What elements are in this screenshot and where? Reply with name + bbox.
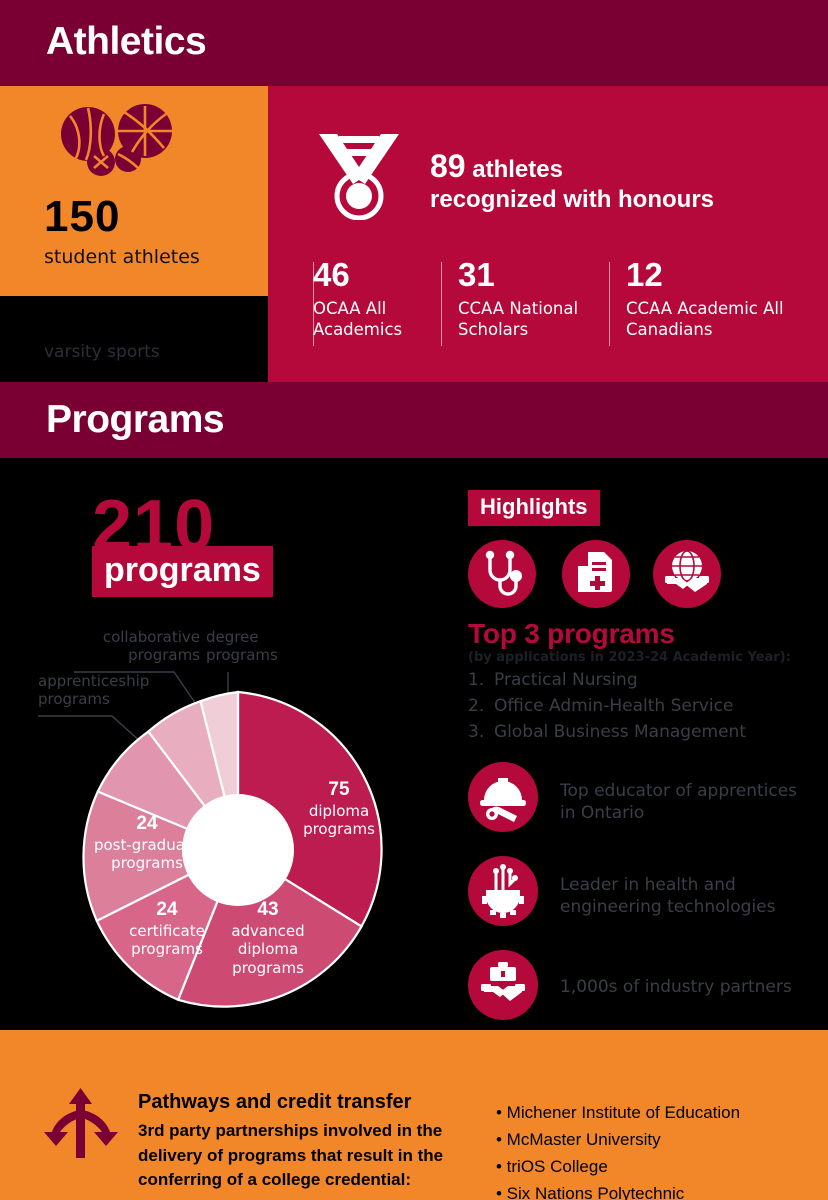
highlight-text: Top educator of apprentices in Ontario xyxy=(560,780,816,824)
list-item: 2. Office Admin-Health Service xyxy=(468,694,818,720)
programs-section-title: Programs xyxy=(46,398,224,442)
top3-programs-list: 1. Practical Nursing 2. Office Admin-Hea… xyxy=(468,668,818,745)
globe-handshake-icon xyxy=(653,540,721,608)
list-index: 3. xyxy=(468,720,494,746)
list-index: 2. xyxy=(468,694,494,720)
top3-programs-title: Top 3 programs xyxy=(468,618,675,650)
donut-svg xyxy=(78,690,398,1010)
stat-divider-1b xyxy=(441,262,442,346)
programs-total-chip: programs xyxy=(92,546,273,597)
medical-file-icon xyxy=(562,540,630,608)
stat-column-ccaa-canadians: 12 CCAA Academic All Canadians xyxy=(626,258,796,340)
highlights-chip: Highlights xyxy=(468,490,600,526)
pathways-body-text: 3rd party partnerships involved in the d… xyxy=(138,1119,482,1193)
hardhat-wrench-icon xyxy=(468,762,538,832)
stat-column-ccaa-scholars: 31 CCAA National Scholars xyxy=(458,258,598,340)
student-athletes-number: 150 xyxy=(44,192,120,242)
list-item: 3. Global Business Management xyxy=(468,720,818,746)
stat-label: CCAA National Scholars xyxy=(458,298,598,340)
list-item: • triOS College xyxy=(496,1154,816,1181)
athletics-header-band: Athletics xyxy=(0,0,828,86)
stat-number: 46 xyxy=(313,258,433,291)
athletics-stat-columns: 46 OCAA All Academics 31 CCAA National S… xyxy=(313,258,813,368)
list-item: • Six Nations Polytechnic xyxy=(496,1181,816,1200)
highlight-row-apprentices: Top educator of apprentices in Ontario xyxy=(468,762,818,832)
list-text: Office Admin-Health Service xyxy=(494,694,733,720)
highlight-row-technologies: Leader in health and engineering technol… xyxy=(468,856,818,926)
pathways-heading: Pathways and credit transfer xyxy=(138,1091,411,1114)
programs-donut-chart: 75 diploma programs 43 advanced diploma … xyxy=(78,690,398,1010)
list-item: • McMaster University xyxy=(496,1127,816,1154)
highlight-text: Leader in health and engineering technol… xyxy=(560,874,816,918)
list-item: • Michener Institute of Education xyxy=(496,1100,816,1127)
gear-circuit-icon xyxy=(468,856,538,926)
pathways-section: Pathways and credit transfer 3rd party p… xyxy=(0,1030,828,1200)
honours-line2: recognized with honours xyxy=(430,186,820,214)
top3-programs-subtitle: (by applications in 2023-24 Academic Yea… xyxy=(468,650,791,665)
pathways-partner-list: • Michener Institute of Education • McMa… xyxy=(496,1100,816,1200)
list-text: Practical Nursing xyxy=(494,668,638,694)
sports-balls-icon xyxy=(48,104,188,176)
student-athletes-card: 150 student athletes xyxy=(0,86,268,296)
varsity-sports-label: varsity sports xyxy=(44,342,160,362)
list-text: Global Business Management xyxy=(494,720,746,746)
donut-hole xyxy=(182,794,294,906)
stat-number: 31 xyxy=(458,258,598,291)
varsity-sports-card: varsity sports xyxy=(0,296,268,382)
three-way-arrow-icon xyxy=(42,1088,120,1166)
stat-divider-2 xyxy=(609,262,610,346)
honours-headline: 89 athletes recognized with honours xyxy=(430,148,820,214)
programs-header-band: Programs xyxy=(0,382,828,458)
highlight-text: 1,000s of industry partners xyxy=(560,976,816,998)
stat-label: CCAA Academic All Canadians xyxy=(626,298,796,340)
list-index: 1. xyxy=(468,668,494,694)
highlight-row-industry-partners: 1,000s of industry partners xyxy=(468,950,818,1020)
highlights-icon-row xyxy=(468,540,728,610)
honours-word: athletes xyxy=(472,156,563,183)
medal-icon xyxy=(313,128,405,220)
list-item: 1. Practical Nursing xyxy=(468,668,818,694)
stethoscope-icon xyxy=(468,540,536,608)
infographic-page: Athletics 150 xyxy=(0,0,828,1200)
honours-number: 89 xyxy=(430,148,466,184)
athletics-section-title: Athletics xyxy=(46,20,206,64)
stat-label: OCAA All Academics xyxy=(313,298,433,340)
student-athletes-label: student athletes xyxy=(44,246,200,268)
stat-number: 12 xyxy=(626,258,796,291)
briefcase-handshake-icon xyxy=(468,950,538,1020)
stat-column-ocaa: 46 OCAA All Academics xyxy=(313,258,433,340)
